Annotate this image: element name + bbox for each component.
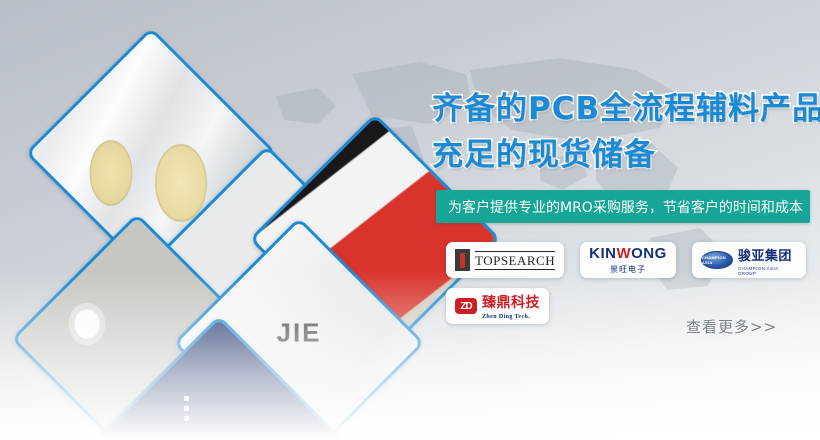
topsearch-mark-icon [455, 249, 470, 271]
zhen-ding-chinese: 臻鼎科技 [482, 295, 540, 311]
product-image-collage: JIE [0, 0, 440, 440]
headline: 齐备的PCB全流程辅料产品、 充足的现货储备 [432, 86, 820, 178]
kinwong-word-accent: W [616, 245, 631, 262]
globe-icon: CHAMPION ASIA [701, 251, 733, 269]
zhen-ding-wordmark: 臻鼎科技 Zhen Ding Tech. [482, 292, 540, 320]
logo-row-1: TOPSEARCH KINWONG 景旺电子 CHAMPION ASIA 骏亚集… [446, 242, 806, 278]
logo-topsearch[interactable]: TOPSEARCH [446, 242, 564, 278]
view-more-link[interactable]: 查看更多>> [686, 316, 777, 337]
zhen-ding-english: Zhen Ding Tech. [482, 314, 540, 320]
kinwong-word-right: ONG [631, 245, 667, 262]
zhen-ding-mark-letters: ZD [460, 301, 471, 312]
subtitle-bar: 为客户提供专业的MRO采购服务，节省客户的时间和成本 [436, 190, 810, 223]
subtitle-text: 为客户提供专业的MRO采购服务，节省客户的时间和成本 [448, 197, 803, 217]
logo-champion-asia[interactable]: CHAMPION ASIA 骏亚集团 CHAMPION ASIA GROUP [692, 242, 806, 278]
kinwong-wordmark: KINWONG [589, 245, 667, 262]
champion-english: CHAMPION ASIA GROUP [738, 266, 797, 276]
logo-zhen-ding[interactable]: ZD 臻鼎科技 Zhen Ding Tech. [446, 288, 549, 324]
promo-banner: JIE 齐备的PCB全流程辅料产品、 充足的现货储备 为客户提供专业的MRO采购… [0, 0, 820, 440]
champion-chinese: 骏亚集团 [738, 249, 792, 264]
globe-text: CHAMPION ASIA [702, 255, 732, 265]
kinwong-subtext: 景旺电子 [610, 264, 646, 275]
headline-line-1: 齐备的PCB全流程辅料产品、 [432, 86, 820, 132]
logo-kinwong[interactable]: KINWONG 景旺电子 [580, 242, 676, 278]
zhen-ding-mark-icon: ZD [455, 298, 477, 314]
headline-line-2: 充足的现货储备 [432, 132, 820, 178]
champion-wordmark: 骏亚集团 CHAMPION ASIA GROUP [738, 245, 797, 276]
topsearch-wordmark: TOPSEARCH [475, 251, 555, 270]
tile-jie-label: JIE [276, 318, 321, 349]
kinwong-word-left: KIN [589, 245, 616, 262]
